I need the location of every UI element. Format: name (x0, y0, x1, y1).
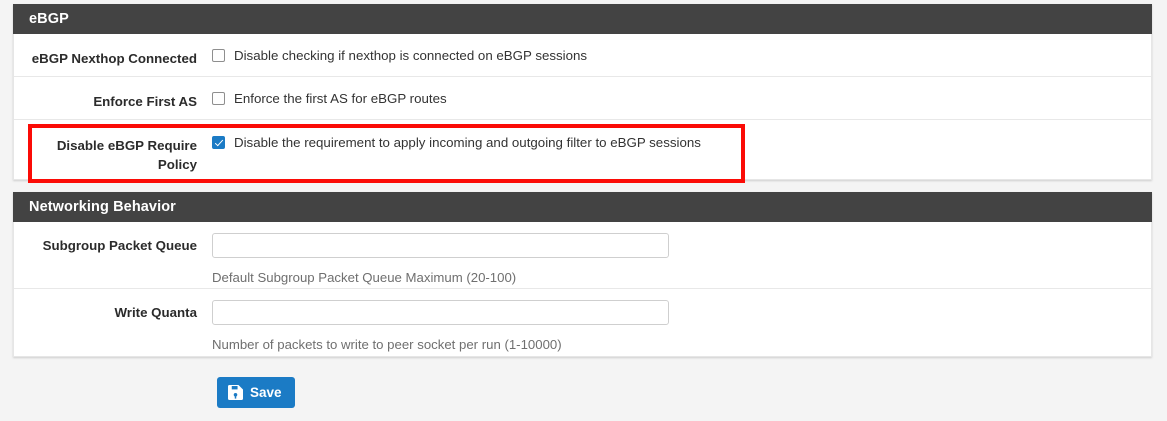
panel-networking-behavior: Networking Behavior Subgroup Packet Queu… (13, 192, 1152, 357)
row-enforce-first-as: Enforce First AS Enforce the first AS fo… (14, 77, 1151, 120)
panel-networking-behavior-title: Networking Behavior (29, 200, 176, 215)
label-subgroup-packet-queue: Subgroup Packet Queue (14, 222, 197, 255)
label-write-quanta: Write Quanta (14, 289, 197, 322)
panel-ebgp: eBGP eBGP Nexthop Connected Disable chec… (13, 4, 1152, 180)
panel-ebgp-header: eBGP (13, 4, 1152, 34)
helper-write-quanta: Number of packets to write to peer socke… (212, 336, 1151, 353)
row-write-quanta: Write Quanta Number of packets to write … (14, 289, 1151, 356)
field-enforce-first-as: Enforce the first AS for eBGP routes (197, 77, 1151, 119)
checkbox-icon-checked[interactable] (212, 136, 225, 149)
save-button[interactable]: Save (217, 377, 295, 408)
input-subgroup-packet-queue[interactable] (212, 233, 669, 258)
panel-networking-behavior-body: Subgroup Packet Queue Default Subgroup P… (13, 222, 1152, 357)
label-enforce-first-as: Enforce First AS (14, 77, 197, 111)
panel-ebgp-title: eBGP (29, 12, 69, 27)
label-ebgp-nexthop-connected: eBGP Nexthop Connected (14, 34, 197, 68)
row-disable-ebgp-require-policy: Disable eBGP Require Policy Disable the … (14, 120, 1151, 179)
checkbox-ebgp-nexthop-connected[interactable]: Disable checking if nexthop is connected… (212, 47, 1151, 64)
field-write-quanta: Number of packets to write to peer socke… (197, 289, 1151, 365)
checkbox-label-ebgp-nexthop-connected: Disable checking if nexthop is connected… (234, 47, 587, 64)
helper-subgroup-packet-queue: Default Subgroup Packet Queue Maximum (2… (212, 269, 1151, 286)
save-button-label: Save (250, 386, 282, 400)
field-ebgp-nexthop-connected: Disable checking if nexthop is connected… (197, 34, 1151, 76)
input-write-quanta[interactable] (212, 300, 669, 325)
label-disable-ebgp-require-policy: Disable eBGP Require Policy (14, 120, 197, 175)
row-ebgp-nexthop-connected: eBGP Nexthop Connected Disable checking … (14, 34, 1151, 77)
panel-ebgp-body: eBGP Nexthop Connected Disable checking … (13, 34, 1152, 180)
checkbox-label-disable-ebgp-require-policy: Disable the requirement to apply incomin… (234, 134, 701, 151)
field-disable-ebgp-require-policy: Disable the requirement to apply incomin… (197, 120, 1151, 163)
field-subgroup-packet-queue: Default Subgroup Packet Queue Maximum (2… (197, 222, 1151, 298)
checkbox-icon-unchecked[interactable] (212, 92, 225, 105)
settings-page: eBGP eBGP Nexthop Connected Disable chec… (0, 0, 1167, 421)
row-subgroup-packet-queue: Subgroup Packet Queue Default Subgroup P… (14, 222, 1151, 289)
checkbox-enforce-first-as[interactable]: Enforce the first AS for eBGP routes (212, 90, 1151, 107)
save-floppy-icon (228, 385, 243, 400)
panel-networking-behavior-header: Networking Behavior (13, 192, 1152, 222)
checkbox-disable-ebgp-require-policy[interactable]: Disable the requirement to apply incomin… (212, 134, 1151, 151)
checkbox-icon-unchecked[interactable] (212, 49, 225, 62)
checkbox-label-enforce-first-as: Enforce the first AS for eBGP routes (234, 90, 447, 107)
